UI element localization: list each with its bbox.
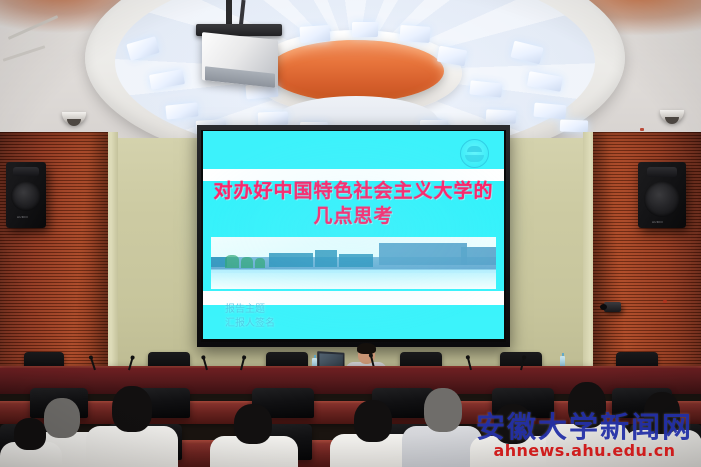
ceiling-indicator-led <box>640 128 644 131</box>
slide-photo-water <box>211 273 496 289</box>
person-head <box>568 382 606 428</box>
wall-speaker-right: AUDIO <box>638 162 686 228</box>
person-head <box>112 386 152 432</box>
ceiling-light-panel-9 <box>352 22 378 37</box>
person-head <box>424 388 462 432</box>
ceiling-light-panel-17 <box>560 120 588 133</box>
speaker-tweeter <box>647 167 677 177</box>
person-shirt <box>546 424 630 467</box>
slide-title: 对办好中国特色社会主义大学的 几点思考 <box>203 179 504 228</box>
person-shirt <box>624 430 701 467</box>
audience-person <box>624 392 701 467</box>
audience-person <box>210 404 298 467</box>
speaker-tweeter <box>13 167 39 176</box>
slide-title-line-1: 对办好中国特色社会主义大学的 <box>203 179 504 204</box>
person-shirt <box>86 426 178 467</box>
slide-footer-text: 报告主题 汇报人签名 <box>225 303 275 331</box>
slide-top-band <box>203 131 504 169</box>
audience-person <box>86 386 178 467</box>
person-head <box>494 404 532 444</box>
ceiling-light-panel-7 <box>258 111 288 125</box>
audience-person <box>546 382 630 467</box>
projection-screen: 对办好中国特色社会主义大学的 几点思考 报告主题 汇报人签名 <box>203 131 504 339</box>
slide-title-line-2: 几点思考 <box>203 204 504 229</box>
university-emblem-icon <box>460 139 489 168</box>
speaker-brand-label: AUDIO <box>652 220 663 224</box>
person-head <box>644 392 680 434</box>
person-head <box>234 404 272 444</box>
projector-mount-pole <box>226 0 232 26</box>
speaker-woofer <box>11 181 41 211</box>
ceiling-dome-speaker-right <box>660 110 684 123</box>
presenter-hair <box>357 343 376 354</box>
ceiling-light-panel-13 <box>486 109 517 124</box>
speaker-woofer <box>644 181 680 217</box>
wall-camera <box>604 302 621 312</box>
ceiling-orange-cove <box>268 40 444 102</box>
ceiling <box>0 0 701 142</box>
person-head <box>354 400 392 442</box>
ceiling-dome-speaker-left <box>62 112 86 125</box>
slide-footer-line-1: 报告主题 <box>225 303 275 317</box>
ceiling-light-panel-16 <box>533 103 566 120</box>
ceiling-bulkhead-line-1 <box>8 15 59 40</box>
presentation-slide: 对办好中国特色社会主义大学的 几点思考 报告主题 汇报人签名 <box>203 131 504 339</box>
ceiling-light-panel-10 <box>399 25 430 43</box>
slide-campus-photo <box>211 237 496 289</box>
wall-speaker-left: AUDIO <box>6 162 46 228</box>
person-head <box>14 418 46 450</box>
ceiling-bulkhead-line-2 <box>3 45 46 61</box>
slide-footer-line-2: 汇报人签名 <box>225 317 275 331</box>
audience-person <box>470 404 556 467</box>
audience-person <box>0 418 62 467</box>
wall-indicator-led <box>663 300 667 303</box>
ceiling-light-panel-8 <box>299 25 330 43</box>
lecture-hall-photo: AUDIO AUDIO 对办好中国特色社会主义大学的 几点思考 <box>0 0 701 467</box>
speaker-brand-label: AUDIO <box>17 215 28 219</box>
